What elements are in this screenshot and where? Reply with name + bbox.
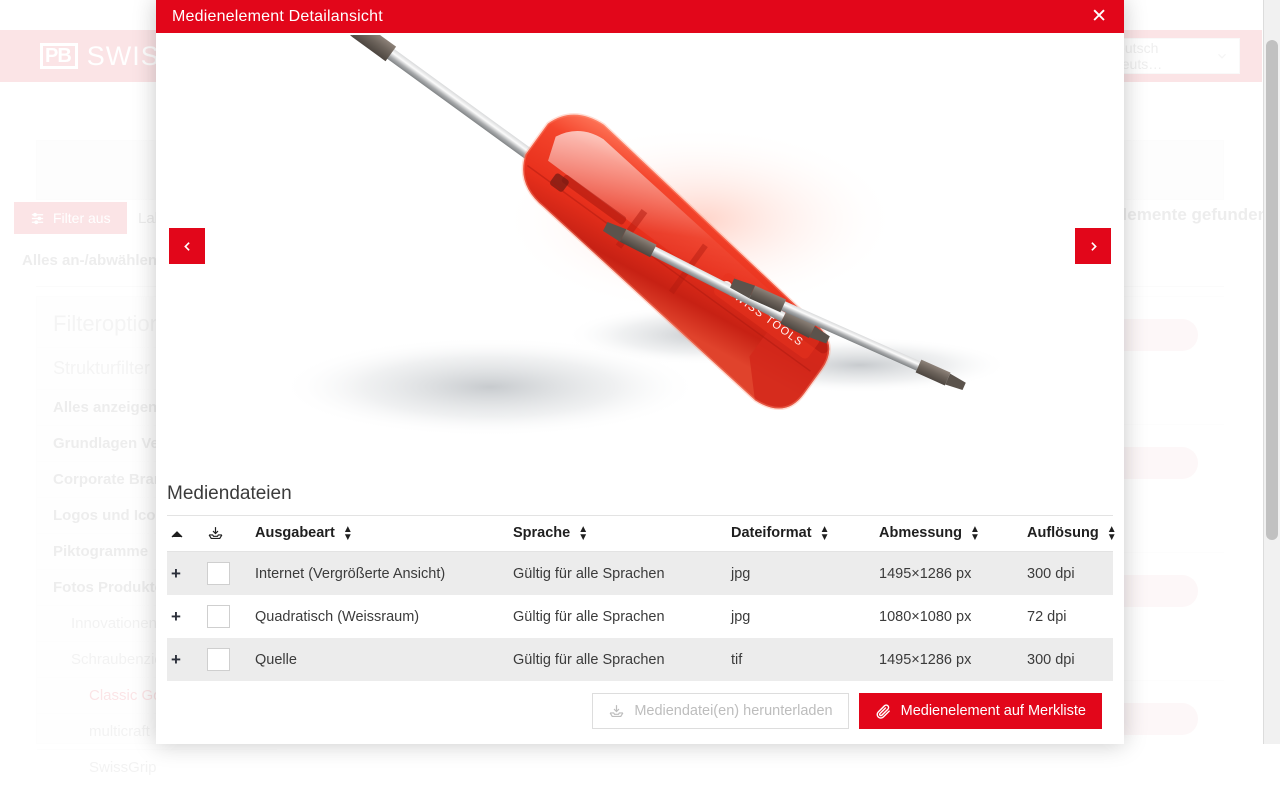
triangle-up-icon[interactable] <box>171 530 199 538</box>
media-viewer: SWISS TOOLS PB <box>156 33 1124 473</box>
column-label-resolution: Auflösung <box>1027 525 1099 541</box>
cell-resolution: 300 dpi <box>1023 638 1113 681</box>
column-header-expand[interactable] <box>167 516 203 552</box>
cell-language: Gültig für alle Sprachen <box>509 552 727 596</box>
row-expand-toggle[interactable]: + <box>167 595 203 638</box>
filter-icon <box>30 211 45 226</box>
add-to-watchlist-label: Medienelement auf Merkliste <box>901 703 1086 719</box>
cell-dimension: 1080×1080 px <box>875 595 1023 638</box>
row-expand-toggle[interactable]: + <box>167 552 203 596</box>
page-scrollbar-thumb[interactable] <box>1266 40 1278 540</box>
table-row[interactable]: + Quelle Gültig für alle Sprachen tif 14… <box>167 638 1113 681</box>
cell-resolution: 72 dpi <box>1023 595 1113 638</box>
chevron-left-icon[interactable] <box>169 228 205 264</box>
download-media-files-label: Mediendatei(en) herunterladen <box>634 703 832 719</box>
add-to-watchlist-button[interactable]: Medienelement auf Merkliste <box>859 693 1102 729</box>
filter-toggle-button[interactable]: Filter aus <box>14 202 127 234</box>
sort-icon-file-format[interactable]: ▲▼ <box>820 526 830 542</box>
chevron-down-icon <box>1215 49 1229 63</box>
media-viewer-image: SWISS TOOLS PB <box>156 33 1124 473</box>
table-row[interactable]: + Internet (Vergrößerte Ansicht) Gültig … <box>167 552 1113 596</box>
cell-language: Gültig für alle Sprachen <box>509 595 727 638</box>
chevron-right-icon[interactable] <box>1075 228 1111 264</box>
column-header-language[interactable]: Sprache ▲▼ <box>509 516 727 552</box>
cell-output-type: Quelle <box>251 638 509 681</box>
column-header-resolution[interactable]: Auflösung ▲▼ <box>1023 516 1113 552</box>
modal-title: Medienelement Detailansicht <box>172 8 383 26</box>
column-label-dimension: Abmessung <box>879 525 962 541</box>
column-label-language: Sprache <box>513 525 570 541</box>
sort-icon-dimension[interactable]: ▲▼ <box>970 526 980 542</box>
sort-icon-output-type[interactable]: ▲▼ <box>343 526 353 542</box>
row-checkbox[interactable] <box>207 605 230 628</box>
row-select-cell[interactable] <box>203 638 251 681</box>
column-label-output-type: Ausgabeart <box>255 525 335 541</box>
cell-language: Gültig für alle Sprachen <box>509 638 727 681</box>
table-header-row: Ausgabeart ▲▼ Sprache ▲▼ Dateiformat ▲▼ … <box>167 516 1113 552</box>
cell-dimension: 1495×1286 px <box>875 638 1023 681</box>
cell-dimension: 1495×1286 px <box>875 552 1023 596</box>
table-row[interactable]: + Quadratisch (Weissraum) Gültig für all… <box>167 595 1113 638</box>
media-detail-modal: Medienelement Detailansicht ✕ <box>156 0 1124 744</box>
row-select-cell[interactable] <box>203 595 251 638</box>
cell-output-type: Quadratisch (Weissraum) <box>251 595 509 638</box>
media-files-section: Mediendateien <box>156 473 1124 744</box>
column-header-output-type[interactable]: Ausgabeart ▲▼ <box>251 516 509 552</box>
row-expand-toggle[interactable]: + <box>167 638 203 681</box>
cell-resolution: 300 dpi <box>1023 552 1113 596</box>
download-tray-icon <box>608 703 625 720</box>
modal-footer: Mediendatei(en) herunterladen Medienelem… <box>167 681 1113 743</box>
column-header-file-format[interactable]: Dateiformat ▲▼ <box>727 516 875 552</box>
product-photo: SWISS TOOLS PB <box>160 35 1120 471</box>
cell-file-format: jpg <box>727 552 875 596</box>
media-files-table: Ausgabeart ▲▼ Sprache ▲▼ Dateiformat ▲▼ … <box>167 515 1113 681</box>
close-icon[interactable]: ✕ <box>1086 5 1112 28</box>
sort-icon-resolution[interactable]: ▲▼ <box>1107 526 1117 542</box>
column-label-file-format: Dateiformat <box>731 525 812 541</box>
filter-toggle-label: Filter aus <box>53 210 111 226</box>
modal-header: Medienelement Detailansicht ✕ <box>156 0 1124 33</box>
row-select-cell[interactable] <box>203 552 251 596</box>
cell-file-format: tif <box>727 638 875 681</box>
sidebar-item[interactable]: SwissGrip <box>37 749 277 785</box>
cell-file-format: jpg <box>727 595 875 638</box>
cell-output-type: Internet (Vergrößerte Ansicht) <box>251 552 509 596</box>
download-media-files-button[interactable]: Mediendatei(en) herunterladen <box>592 693 848 729</box>
sort-icon-language[interactable]: ▲▼ <box>578 526 588 542</box>
row-checkbox[interactable] <box>207 648 230 671</box>
download-tray-icon[interactable] <box>207 525 247 542</box>
logo-mark: PB <box>40 43 78 69</box>
media-files-heading: Mediendateien <box>167 473 1113 515</box>
select-all-toggle[interactable]: Alles an-/abwählen <box>22 252 157 269</box>
row-checkbox[interactable] <box>207 562 230 585</box>
column-header-select[interactable] <box>203 516 251 552</box>
column-header-dimension[interactable]: Abmessung ▲▼ <box>875 516 1023 552</box>
paperclip-icon <box>875 703 892 720</box>
page-scrollbar-track[interactable] <box>1263 0 1280 744</box>
